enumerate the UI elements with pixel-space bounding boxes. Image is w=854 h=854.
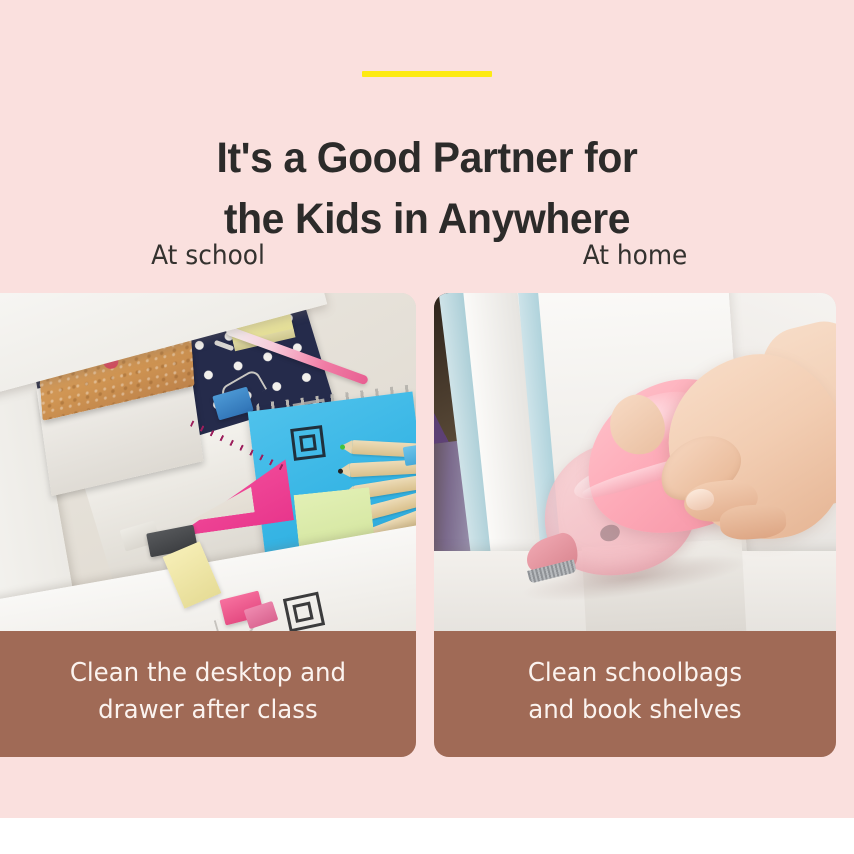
column-label-at-school: At school [17, 242, 400, 269]
caption-bar-at-home: Clean schoolbags and book shelves [434, 631, 836, 757]
caption-text: Clean schoolbags and book shelves [528, 655, 742, 729]
bookshelf-scene [434, 293, 836, 631]
photo-home-vacuum [434, 293, 836, 631]
promo-banner-page: It's a Good Partner for the Kids in Anyw… [0, 0, 854, 854]
yellow-divider-icon [362, 71, 492, 77]
usage-card-at-home[interactable]: Clean schoolbags and book shelves [434, 293, 836, 757]
column-label-at-home: At home [450, 242, 820, 269]
photo-school-drawer [0, 293, 416, 631]
caption-text: Clean the desktop and drawer after class [70, 655, 346, 729]
usage-card-at-school[interactable]: Clean the desktop and drawer after class [0, 293, 416, 757]
notepad-logo-icon [290, 425, 326, 461]
page-title: It's a Good Partner for the Kids in Anyw… [21, 128, 832, 250]
drawer-scene [0, 293, 416, 631]
blue-eraser [403, 443, 416, 466]
caption-bar-at-school: Clean the desktop and drawer after class [0, 631, 416, 757]
metal-paper-clip-icon [283, 592, 325, 631]
